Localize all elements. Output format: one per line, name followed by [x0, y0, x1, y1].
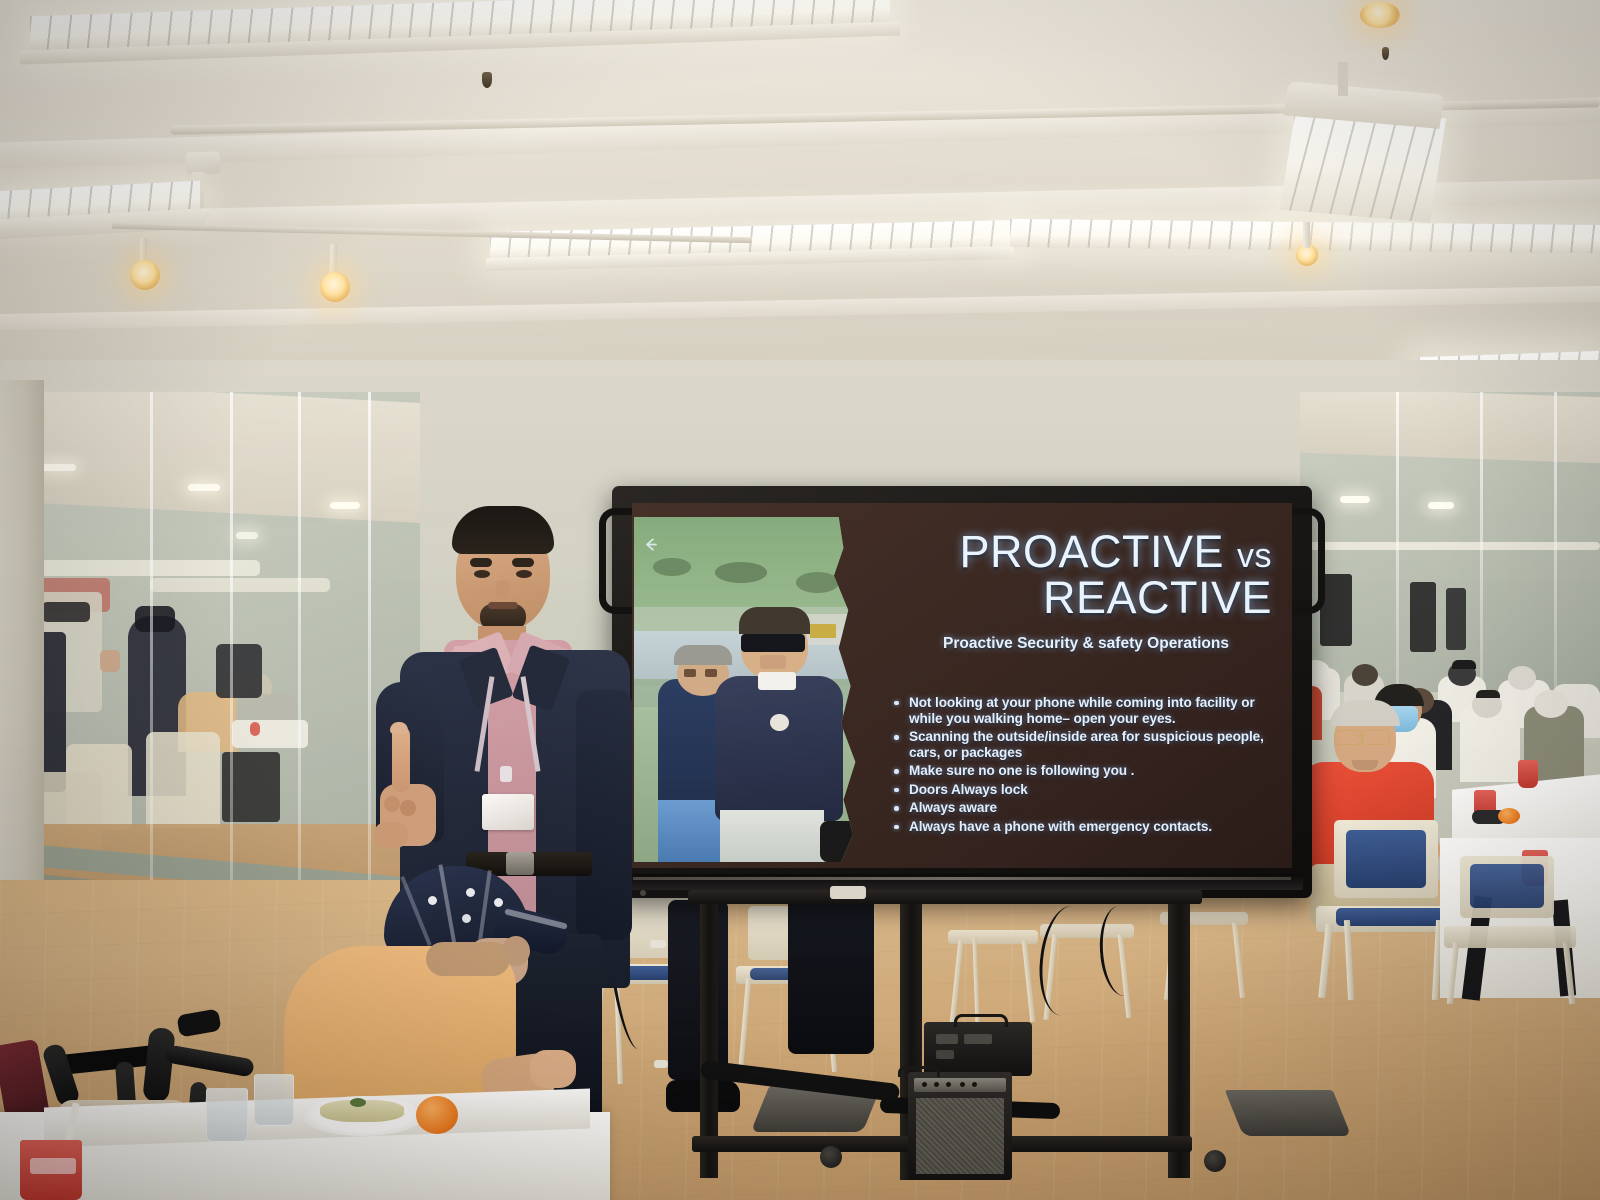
caster-wheel-icon: [1204, 1150, 1226, 1172]
presenter-hair: [452, 506, 554, 554]
track-spotlight-icon: [1360, 2, 1400, 28]
display-handle: [1292, 508, 1325, 614]
lanyard-clip: [500, 766, 512, 782]
walker-grip: [59, 1045, 157, 1075]
amp-handle-icon: [898, 1066, 940, 1077]
kippah-icon: [1452, 660, 1476, 669]
case-label: [936, 1050, 954, 1059]
stand-clamp: [830, 886, 866, 899]
audience-head: [1508, 666, 1536, 690]
slide-bullet: Scanning the outside/inside area for sus…: [890, 729, 1276, 761]
eye: [474, 570, 490, 578]
orange-fruit: [416, 1096, 458, 1134]
jacket-sleeve: [576, 690, 632, 940]
cap-eyelet: [428, 896, 437, 905]
kippah-icon: [1476, 690, 1500, 698]
slide-text-area: PROACTIVE vs REACTIVE Proactive Security…: [884, 515, 1282, 860]
presentation-room-photo: PROACTIVE vs REACTIVE Proactive Security…: [0, 0, 1600, 1200]
mirrored-wall-right: [1300, 392, 1600, 692]
sprinkler-icon: [482, 72, 492, 88]
slide-title-vs: vs: [1237, 537, 1272, 575]
slide-title-line2: REACTIVE: [1043, 572, 1272, 623]
id-badge: [482, 794, 534, 830]
folding-chair: [1442, 856, 1582, 1006]
eyeglasses-icon: [1334, 730, 1362, 745]
flat-panel-display[interactable]: PROACTIVE vs REACTIVE Proactive Security…: [612, 486, 1312, 898]
shirt-collar: [426, 942, 510, 976]
walker-handle: [165, 1044, 255, 1077]
attendee-hand: [530, 1050, 576, 1088]
drink-cup: [1518, 760, 1538, 788]
pointing-index-finger: [392, 726, 410, 792]
slide-bullet-list: Not looking at your phone while coming i…: [890, 695, 1276, 835]
thumb: [374, 822, 408, 848]
person-legs: [668, 900, 728, 1080]
eyebrow: [512, 558, 534, 567]
slide-bullet: Always aware: [890, 800, 1276, 816]
track-spotlight-icon: [320, 272, 350, 302]
slide-bullet: Doors Always lock: [890, 782, 1276, 798]
slide-subtitle: Proactive Security & safety Operations: [924, 635, 1248, 653]
sprinkler-icon: [1382, 47, 1389, 60]
stand-foot: [1225, 1090, 1352, 1136]
eyebrow: [470, 558, 492, 567]
knuckle: [384, 796, 400, 812]
slide-bullet: Make sure no one is following you .: [890, 763, 1276, 779]
glasses-bridge: [1358, 735, 1364, 737]
nose: [496, 580, 510, 598]
display-screen[interactable]: PROACTIVE vs REACTIVE Proactive Security…: [632, 503, 1292, 868]
pendant-stem: [1338, 62, 1348, 96]
walker-brake-lever: [176, 1009, 221, 1038]
slide-title-line1: PROACTIVE: [959, 526, 1224, 577]
display-stand-crossbar: [688, 890, 1202, 904]
person-legs: [788, 894, 874, 1054]
display-chin: [621, 874, 1303, 890]
knuckle: [400, 800, 416, 816]
cap-eyelet: [466, 888, 475, 897]
equipment-case: [924, 1022, 1032, 1076]
audience-head: [1534, 690, 1568, 718]
walker-frame: [142, 1027, 176, 1103]
case-label: [964, 1034, 992, 1044]
food-garnish: [350, 1098, 366, 1107]
sunglasses-icon: [741, 634, 805, 651]
track-spotlight-icon: [130, 260, 160, 290]
clear-cup: [206, 1088, 248, 1142]
case-label: [936, 1034, 958, 1044]
orange-fruit: [1498, 808, 1520, 824]
pa-amplifier: [908, 1072, 1012, 1180]
slide-bullet: Not looking at your phone while coming i…: [890, 695, 1276, 727]
fingertip: [390, 722, 408, 734]
presentation-slide: PROACTIVE vs REACTIVE Proactive Security…: [632, 503, 1292, 868]
spotlight-arm: [329, 244, 337, 274]
cup-brand-label: [30, 1158, 76, 1174]
cap-eyelet: [462, 914, 471, 923]
eyeglasses-icon: [1362, 730, 1390, 745]
spotlight-arm: [1303, 222, 1310, 248]
neck: [1352, 760, 1378, 770]
mouth: [488, 602, 518, 609]
clear-cup: [254, 1074, 294, 1126]
slide-title: PROACTIVE vs REACTIVE: [884, 529, 1272, 621]
case-handle-icon: [954, 1014, 1008, 1027]
audience-head: [1352, 664, 1378, 686]
slide-bullet: Always have a phone with emergency conta…: [890, 819, 1276, 835]
slide-photo: [634, 517, 872, 862]
caster-wheel-icon: [820, 1146, 842, 1168]
eye: [516, 570, 532, 578]
